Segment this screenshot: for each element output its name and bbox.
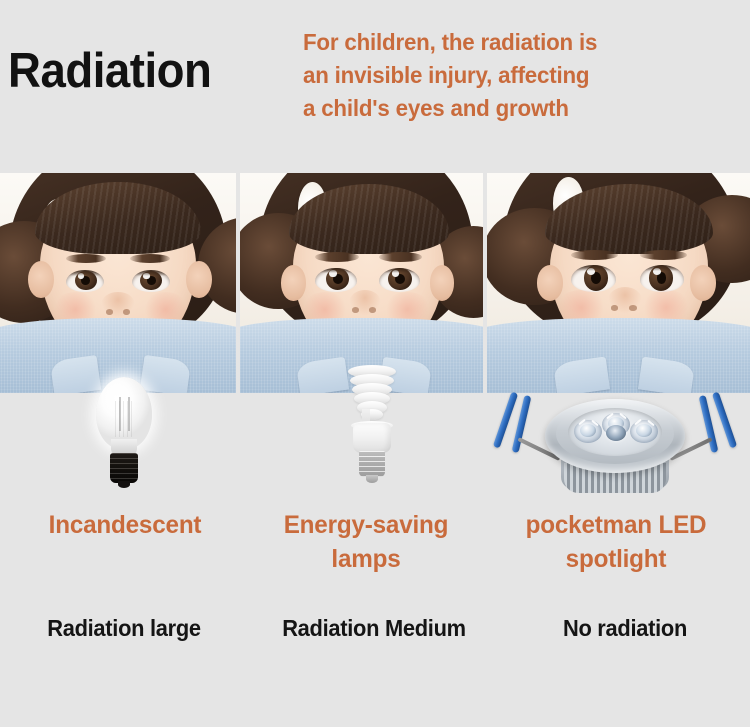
cfl-spiral-lamp-icon <box>342 365 402 497</box>
eyebrow-right <box>640 250 687 260</box>
incandescent-bulb-icon <box>92 377 156 495</box>
denim-shirt <box>487 318 750 393</box>
radiation-level-incandescent: Radiation large <box>0 612 248 644</box>
cfl-ballast-body <box>353 423 391 453</box>
photo-1-scene <box>0 173 236 393</box>
eyelash-left <box>315 268 356 274</box>
header-subtitle: For children, the radiation is an invisi… <box>303 26 703 125</box>
page-title: Radiation <box>8 47 211 96</box>
bulb-screw-base <box>110 453 138 483</box>
eye-right <box>640 265 685 291</box>
product-name-incandescent: Incandescent <box>0 508 250 542</box>
product-name-row: Incandescent Energy-saving lamps pocketm… <box>0 508 750 590</box>
product-name-cfl: Energy-saving lamps <box>250 508 482 576</box>
product-cell-cfl <box>250 393 482 511</box>
child-photo-1 <box>0 173 236 393</box>
nostril-right <box>123 309 130 315</box>
ear-left <box>281 265 305 300</box>
radiation-level-row: Radiation large Radiation Medium No radi… <box>0 612 750 652</box>
eyebrow-left <box>571 250 618 260</box>
eye-left <box>66 270 104 292</box>
product-cell-led <box>482 393 750 511</box>
bulb-base-tip <box>118 481 130 488</box>
subtitle-line-2: an invisible injury, affecting <box>303 59 691 92</box>
nostril-right <box>629 305 637 311</box>
eye-right <box>379 268 420 292</box>
nostril-left <box>352 307 359 313</box>
radiation-level-text: No radiation <box>506 612 744 644</box>
subtitle-line-3: a child's eyes and growth <box>303 92 691 125</box>
bulb-filament-coil <box>115 401 133 437</box>
bulb-filament-wire-2 <box>128 397 130 431</box>
eyelash-right <box>132 270 170 276</box>
cfl-spiral-tube <box>348 365 396 427</box>
subtitle-line-1: For children, the radiation is <box>303 26 691 59</box>
led-center-lens <box>606 425 626 441</box>
product-name-line: spotlight <box>486 542 746 576</box>
product-cell-incandescent <box>0 393 250 511</box>
eyelash-left <box>66 270 104 276</box>
product-name-line: Incandescent <box>4 508 247 542</box>
product-name-line: Energy-saving <box>253 508 478 542</box>
radiation-level-cfl: Radiation Medium <box>248 612 500 644</box>
photo-3-scene <box>487 173 750 393</box>
radiation-level-text: Radiation large <box>6 612 242 644</box>
ear-right <box>430 265 454 300</box>
header-section: Radiation For children, the radiation is… <box>0 0 750 172</box>
eye-left <box>315 268 356 292</box>
ear-right <box>690 265 716 300</box>
product-name-led: pocketman LED spotlight <box>482 508 750 576</box>
eyelash-right <box>640 265 685 271</box>
cfl-screw-base <box>359 451 385 477</box>
child-photo-2 <box>240 173 483 393</box>
radiation-level-text: Radiation Medium <box>254 612 493 644</box>
led-emitter-1 <box>574 420 602 443</box>
eyelash-left <box>571 265 616 271</box>
product-name-line: pocketman LED <box>486 508 746 542</box>
eye-right <box>132 270 170 292</box>
radiation-level-led: No radiation <box>500 612 750 644</box>
bulb-filament-wire-1 <box>119 397 121 431</box>
eye-left <box>571 265 616 291</box>
infographic-page: Radiation For children, the radiation is… <box>0 0 750 727</box>
product-row <box>0 393 750 511</box>
child-photo-3 <box>487 173 750 393</box>
led-emitter-3 <box>630 420 658 443</box>
ear-left <box>537 265 563 300</box>
cfl-base-tip <box>366 475 378 483</box>
nostril-right <box>369 307 376 313</box>
product-name-line: lamps <box>253 542 478 576</box>
led-spotlight-icon <box>498 385 732 509</box>
photo-2-scene <box>240 173 483 393</box>
eyelash-right <box>379 268 420 274</box>
photo-strip <box>0 173 750 393</box>
nostril-left <box>611 305 619 311</box>
